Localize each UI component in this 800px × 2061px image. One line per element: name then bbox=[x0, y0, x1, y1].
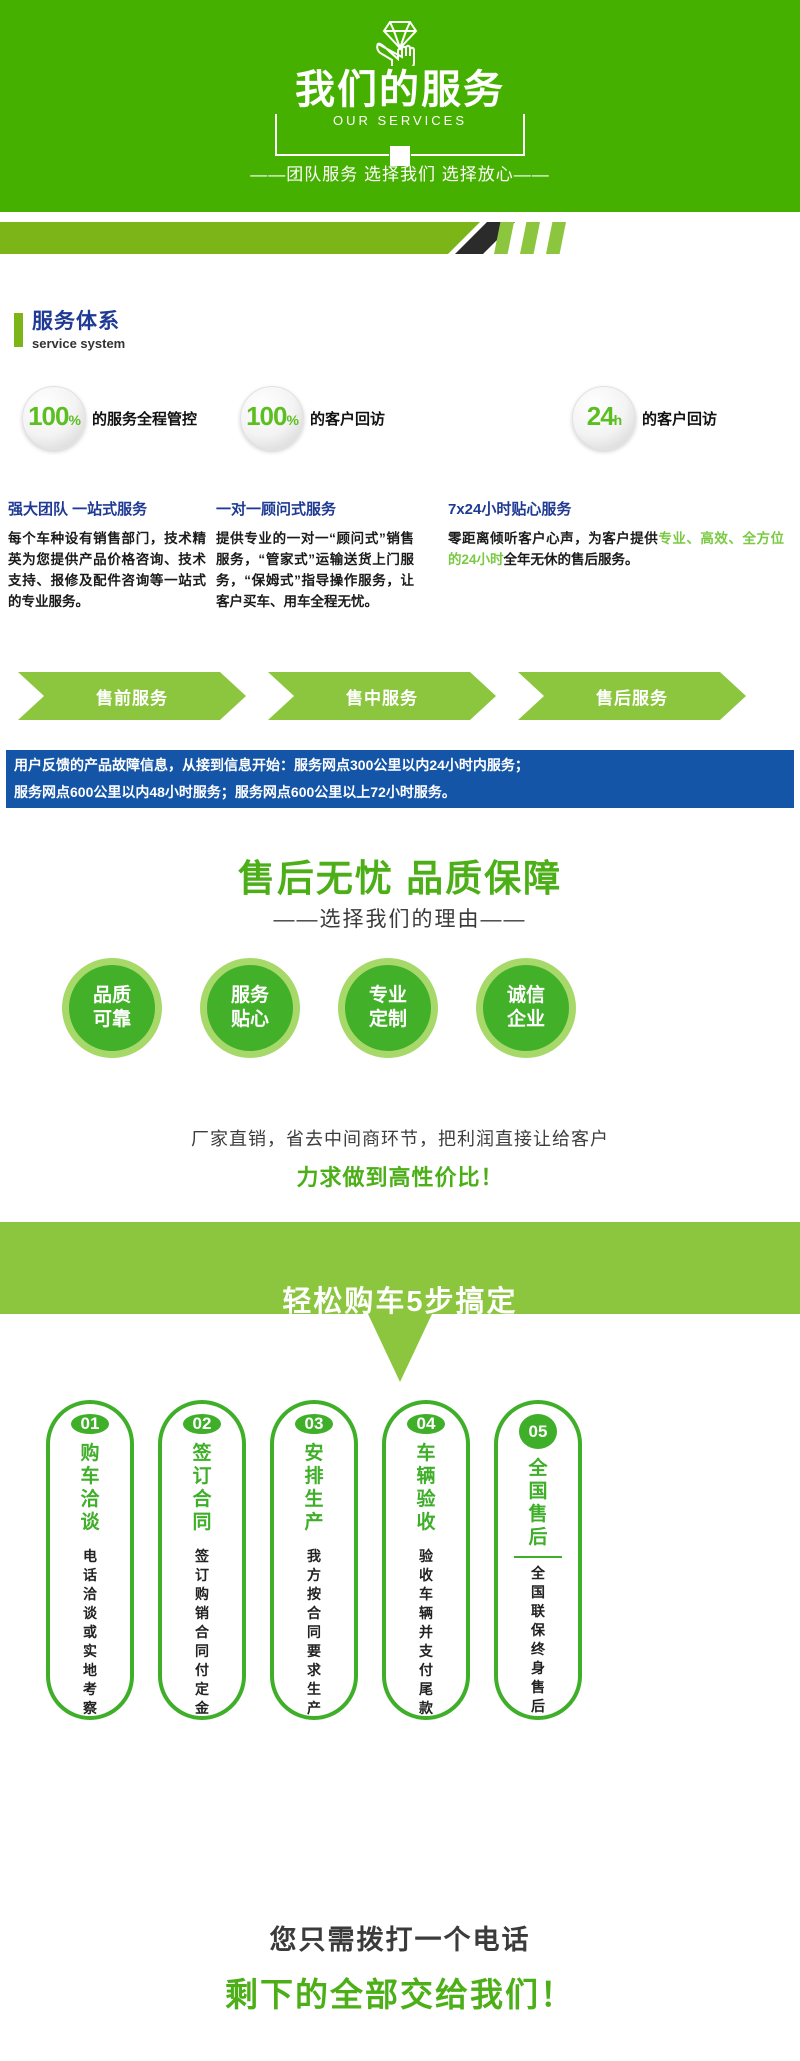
circle-line-2: 贴心 bbox=[231, 1008, 269, 1032]
reason-heading: 售后无忧 品质保障 bbox=[0, 848, 800, 902]
service-column: 强大团队 一站式服务 每个车种设有销售部门，技术精英为您提供产品价格咨询、技术支… bbox=[8, 498, 206, 612]
badge-number-value: 24 bbox=[587, 401, 614, 431]
badge-item: 24h 的客户回访 bbox=[572, 386, 717, 450]
purchase-steps: 01 购车洽谈 电话洽谈或实地考察 02 签订合同 签订购销合同付定金 03 安… bbox=[0, 1400, 800, 1850]
badge-row: 100% 的服务全程管控 100% 的客户回访 24h 的客户回访 bbox=[0, 386, 800, 458]
badge-number-value: 100 bbox=[246, 401, 286, 431]
step-divider bbox=[514, 1556, 562, 1558]
badge-number-unit: % bbox=[286, 412, 297, 428]
step-title: 车辆验收 bbox=[411, 1442, 441, 1534]
chevron-aftersale[interactable]: 售后服务 bbox=[518, 672, 746, 720]
footer-line-2: 剩下的全部交给我们！ bbox=[0, 1968, 800, 2016]
policy-line-2: 服务网点600公里以内48小时服务；服务网点600公里以上72小时服务。 bbox=[14, 779, 786, 806]
badge-item: 100% 的客户回访 bbox=[240, 386, 385, 450]
circle-line-2: 可靠 bbox=[93, 1008, 131, 1032]
chevron-label: 售后服务 bbox=[596, 684, 668, 709]
chevron-presale[interactable]: 售前服务 bbox=[18, 672, 246, 720]
chevron-label: 售前服务 bbox=[96, 684, 168, 709]
section-title-en: service system bbox=[32, 336, 125, 352]
stripe-bar-3 bbox=[546, 222, 566, 254]
badge-circle: 24h bbox=[572, 386, 636, 450]
column-body: 零距离倾听客户心声，为客户提供专业、高效、全方位的24小时全年无休的售后服务。 bbox=[448, 528, 784, 570]
stripe-green-main bbox=[0, 222, 480, 254]
direct-sale-line-1: 厂家直销，省去中间商环节，把利润直接让给客户 bbox=[0, 1125, 800, 1151]
step-number: 05 bbox=[519, 1414, 557, 1449]
step-number: 04 bbox=[407, 1414, 445, 1434]
reason-circle-quality: 品质 可靠 bbox=[62, 958, 162, 1058]
badge-circle: 100% bbox=[22, 386, 86, 450]
section-header-service-system: 服务体系 service system bbox=[14, 310, 125, 352]
purchase-steps-title: 轻松购车5步搞定 bbox=[0, 1278, 800, 1320]
step-description: 电话洽谈或实地考察 bbox=[80, 1547, 100, 1718]
badge-circle: 100% bbox=[240, 386, 304, 450]
circle-line-2: 企业 bbox=[507, 1008, 545, 1032]
badge-number: 24h bbox=[587, 403, 621, 433]
service-phase-chevrons: 售前服务 售中服务 售后服务 bbox=[0, 672, 800, 720]
section-mark bbox=[14, 313, 23, 347]
circle-line-2: 定制 bbox=[369, 1008, 407, 1032]
column-heading: 一对一顾问式服务 bbox=[216, 498, 414, 519]
badge-number-unit: h bbox=[614, 412, 622, 428]
reason-subheading: ——选择我们的理由—— bbox=[0, 903, 800, 933]
direct-sale-line-2: 力求做到高性价比！ bbox=[0, 1160, 800, 1192]
step-description: 我方按合同要求生产 bbox=[304, 1547, 324, 1718]
reason-circle-service: 服务 贴心 bbox=[200, 958, 300, 1058]
reason-circles: 品质 可靠 服务 贴心 专业 定制 诚信 企业 bbox=[0, 958, 800, 1078]
stripe-bar-2 bbox=[520, 222, 540, 254]
circle-line-1: 品质 bbox=[93, 984, 131, 1008]
reason-circle-integrity: 诚信 企业 bbox=[476, 958, 576, 1058]
column-heading: 强大团队 一站式服务 bbox=[8, 498, 206, 519]
badge-number: 100% bbox=[28, 403, 80, 433]
service-column: 一对一顾问式服务 提供专业的一对一“顾问式”销售服务，“管家式”运输送货上门服务… bbox=[216, 498, 414, 612]
hero-subtitle: OUR SERVICES bbox=[0, 113, 800, 128]
column-body-part1: 零距离倾听客户心声，为客户提供 bbox=[448, 531, 658, 546]
step-card: 05 全国售后 全国联保终身售后 bbox=[494, 1400, 582, 1720]
badge-number: 100% bbox=[246, 403, 298, 433]
step-description: 签订购销合同付定金 bbox=[192, 1547, 212, 1718]
column-heading: 7x24小时贴心服务 bbox=[448, 498, 784, 519]
step-card: 04 车辆验收 验收车辆并支付尾款 bbox=[382, 1400, 470, 1720]
badge-number-unit: % bbox=[68, 412, 79, 428]
circle-line-1: 服务 bbox=[231, 984, 269, 1008]
badge-number-value: 100 bbox=[28, 401, 68, 431]
service-policy-bar: 用户反馈的产品故障信息，从接到信息开始：服务网点300公里以内24小时内服务； … bbox=[6, 750, 794, 808]
badge-label: 的客户回访 bbox=[642, 408, 717, 429]
column-body: 每个车种设有销售部门，技术精英为您提供产品价格咨询、技术支持、报修及配件咨询等一… bbox=[8, 528, 206, 612]
reason-circle-professional: 专业 定制 bbox=[338, 958, 438, 1058]
step-card: 02 签订合同 签订购销合同付定金 bbox=[158, 1400, 246, 1720]
badge-label: 的客户回访 bbox=[310, 408, 385, 429]
step-card: 01 购车洽谈 电话洽谈或实地考察 bbox=[46, 1400, 134, 1720]
chevron-label: 售中服务 bbox=[346, 684, 418, 709]
step-title: 签订合同 bbox=[187, 1442, 217, 1534]
page-title: 我们的服务 bbox=[0, 68, 800, 112]
step-title: 全国售后 bbox=[523, 1457, 553, 1549]
step-description: 验收车辆并支付尾款 bbox=[416, 1547, 436, 1718]
step-title: 购车洽谈 bbox=[75, 1442, 105, 1534]
step-number: 02 bbox=[183, 1414, 221, 1434]
step-number: 01 bbox=[71, 1414, 109, 1434]
section-title-cn: 服务体系 bbox=[32, 310, 125, 334]
circle-line-1: 诚信 bbox=[507, 984, 545, 1008]
step-description: 全国联保终身售后 bbox=[528, 1564, 548, 1716]
step-title: 安排生产 bbox=[299, 1442, 329, 1534]
decorative-stripe-banner bbox=[0, 222, 800, 254]
service-column: 7x24小时贴心服务 零距离倾听客户心声，为客户提供专业、高效、全方位的24小时… bbox=[448, 498, 784, 570]
column-body-part2: 全年无休的售后服务。 bbox=[504, 552, 639, 567]
hero-tagline: ——团队服务 选择我们 选择放心—— bbox=[0, 160, 800, 185]
circle-line-1: 专业 bbox=[369, 984, 407, 1008]
footer-line-1: 您只需拨打一个电话 bbox=[0, 1918, 800, 1957]
chevron-insale[interactable]: 售中服务 bbox=[268, 672, 496, 720]
column-body: 提供专业的一对一“顾问式”销售服务，“管家式”运输送货上门服务，“保姆式”指导操… bbox=[216, 528, 414, 612]
policy-line-1: 用户反馈的产品故障信息，从接到信息开始：服务网点300公里以内24小时内服务； bbox=[14, 752, 786, 779]
step-card: 03 安排生产 我方按合同要求生产 bbox=[270, 1400, 358, 1720]
badge-item: 100% 的服务全程管控 bbox=[22, 386, 197, 450]
badge-label: 的服务全程管控 bbox=[92, 408, 197, 429]
hero-banner: 我们的服务 OUR SERVICES ——团队服务 选择我们 选择放心—— bbox=[0, 0, 800, 212]
step-number: 03 bbox=[295, 1414, 333, 1434]
